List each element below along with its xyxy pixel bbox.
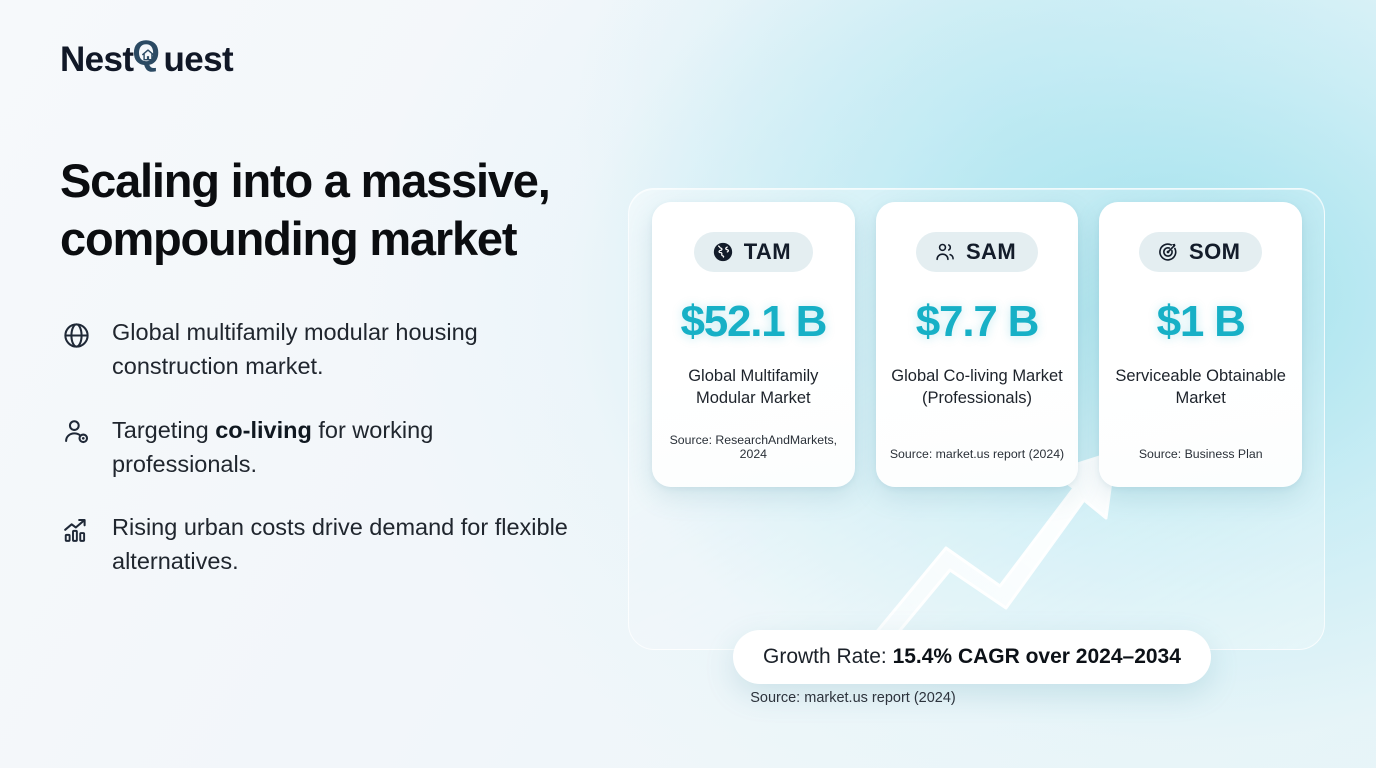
market-card-tam[interactable]: TAM $52.1 B Global Multifamily Modular M… [652, 202, 855, 487]
bar-chart-trending-up-icon [60, 514, 92, 546]
market-label: Global Co-living Market (Professionals) [888, 366, 1067, 410]
list-item-label: Global multifamily modular housing const… [112, 316, 582, 384]
badge-label: TAM [744, 241, 791, 263]
list-item-text: Rising urban costs drive demand for flex… [112, 514, 568, 574]
brand-name-suffix: uest [163, 42, 233, 77]
list-item: Global multifamily modular housing const… [60, 316, 620, 384]
market-label: Serviceable Obtainable Market [1111, 366, 1290, 410]
brand-logo[interactable]: NestQuest [60, 36, 233, 77]
user-check-icon [60, 417, 92, 449]
market-value: $52.1 B [680, 300, 826, 344]
growth-rate-prefix: Growth Rate: [763, 645, 893, 668]
headline-line-1: Scaling into a massive, [60, 154, 550, 207]
list-item: Targeting co-living for working professi… [60, 414, 620, 482]
market-card-sam[interactable]: SAM $7.7 B Global Co-living Market (Prof… [876, 202, 1079, 487]
market-value: $7.7 B [916, 300, 1038, 344]
headline-line-2: compounding market [60, 212, 516, 265]
growth-rate-source: Source: market.us report (2024) [0, 690, 1376, 706]
list-item-label: Rising urban costs drive demand for flex… [112, 511, 582, 579]
badge-label: SAM [966, 241, 1016, 263]
market-label: Global Multifamily Modular Market [664, 366, 843, 410]
growth-rate-value: 15.4% CAGR over 2024–2034 [893, 645, 1181, 668]
slide-canvas: NestQuest Scaling into a massive, compou… [0, 0, 1376, 768]
status-badge: SOM [1139, 232, 1262, 272]
page-title: Scaling into a massive, compounding mark… [60, 152, 605, 268]
market-card-list: TAM $52.1 B Global Multifamily Modular M… [652, 202, 1302, 487]
house-in-magnifier-icon [141, 48, 155, 62]
brand-name-prefix: Nest [60, 42, 133, 77]
left-content-column: NestQuest Scaling into a massive, compou… [60, 36, 620, 609]
market-source: Source: Business Plan [1139, 447, 1263, 461]
market-card-som[interactable]: SOM $1 B Serviceable Obtainable Market S… [1099, 202, 1302, 487]
list-item-text: Global multifamily modular housing const… [112, 319, 478, 379]
status-badge: TAM [694, 232, 813, 272]
globe-icon [60, 319, 92, 351]
growth-rate-badge: Growth Rate: 15.4% CAGR over 2024–2034 [733, 630, 1211, 684]
market-source: Source: market.us report (2024) [890, 447, 1064, 461]
badge-label: SOM [1189, 241, 1240, 263]
market-source: Source: ResearchAndMarkets, 2024 [664, 433, 843, 461]
list-item: Rising urban costs drive demand for flex… [60, 511, 620, 579]
target-arrow-icon [1157, 241, 1179, 263]
status-badge: SAM [916, 232, 1038, 272]
bullet-list: Global multifamily modular housing const… [60, 316, 620, 579]
logo-q-monogram: Q [133, 36, 163, 71]
list-item-text-bold: co-living [215, 417, 312, 443]
globe-icon [712, 241, 734, 263]
list-item-text-before: Targeting [112, 417, 215, 443]
users-icon [934, 241, 956, 263]
market-value: $1 B [1157, 300, 1245, 344]
list-item-label: Targeting co-living for working professi… [112, 414, 582, 482]
